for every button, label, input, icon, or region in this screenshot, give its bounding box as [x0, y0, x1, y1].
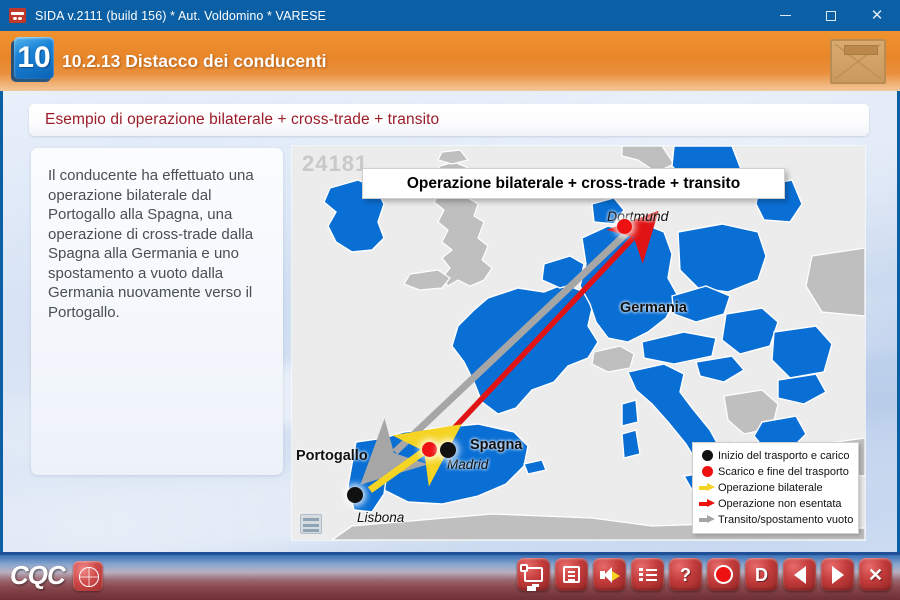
close-x-icon: ✕	[868, 566, 883, 584]
maximize-icon	[826, 11, 836, 21]
map-label-portogallo: Portogallo	[296, 448, 368, 464]
legend-item: Operazione bilaterale	[699, 480, 852, 495]
monitor-icon	[524, 567, 543, 582]
map-dot-unload-spain	[422, 442, 437, 457]
presentation-button[interactable]	[517, 558, 550, 591]
minimize-button[interactable]	[762, 0, 808, 31]
next-arrow-icon	[832, 566, 844, 584]
document-icon	[563, 566, 580, 583]
speaker-icon	[600, 567, 620, 583]
record-button[interactable]	[707, 558, 740, 591]
map-label-dortmund: Dortmund	[607, 208, 668, 224]
description-panel: Il conducente ha effettuato una operazio…	[31, 148, 283, 475]
globe-icon[interactable]	[73, 561, 103, 591]
previous-button[interactable]	[783, 558, 816, 591]
maximize-button[interactable]	[808, 0, 854, 31]
map-dot-madrid	[440, 442, 456, 458]
description-text: Il conducente ha effettuato una operazio…	[48, 166, 267, 322]
map-callout-title: Operazione bilaterale + cross-trade + tr…	[362, 168, 785, 199]
red-dot-icon	[716, 567, 731, 582]
toolbar-buttons: ? D ✕	[517, 558, 892, 591]
document-button[interactable]	[555, 558, 588, 591]
close-icon: ✕	[871, 8, 884, 23]
window-controls: ✕	[762, 0, 900, 31]
grey-arrow-icon	[699, 515, 716, 524]
map-dot-lisbona	[347, 487, 363, 503]
window-title: SIDA v.2111 (build 156) * Aut. Voldomino…	[35, 9, 326, 23]
help-button[interactable]: ?	[669, 558, 702, 591]
d-button[interactable]: D	[745, 558, 778, 591]
legend-label: Operazione non esentata	[718, 498, 842, 510]
content-area: Esempio di operazione bilaterale + cross…	[3, 91, 897, 552]
map-callout-label: Operazione bilaterale + cross-trade + tr…	[407, 175, 740, 193]
chapter-number-label: 10	[14, 40, 54, 76]
chapter-number-badge: 10	[10, 34, 54, 80]
map-label-madrid: Madrid	[447, 457, 488, 472]
yellow-arrow-icon	[699, 483, 716, 492]
title-bar: SIDA v.2111 (build 156) * Aut. Voldomino…	[0, 0, 900, 31]
map-watermark: 24181	[302, 151, 368, 177]
black-dot-icon	[699, 450, 716, 461]
red-arrow-icon	[699, 499, 716, 508]
minimize-icon	[780, 15, 791, 16]
legend-item: Transito/spostamento vuoto	[699, 512, 852, 527]
europe-map: 24181 Operazione bilaterale + cross-trad…	[292, 146, 865, 540]
letter-d-icon: D	[755, 566, 768, 584]
subtitle-label: Esempio di operazione bilaterale + cross…	[45, 111, 439, 129]
close-app-button[interactable]: ✕	[859, 558, 892, 591]
map-legend: Inizio del trasporto e carico Scarico e …	[692, 442, 859, 534]
chapter-header: 10 10.2.13 Distacco dei conducenti	[0, 31, 900, 91]
question-icon: ?	[680, 566, 691, 584]
list-icon	[639, 567, 657, 582]
map-dot-dortmund	[617, 219, 632, 234]
page-title: 10.2.13 Distacco dei conducenti	[62, 31, 327, 91]
map-label-spagna: Spagna	[470, 437, 522, 453]
next-button[interactable]	[821, 558, 854, 591]
index-button[interactable]	[631, 558, 664, 591]
legend-label: Operazione bilaterale	[718, 482, 823, 494]
cqc-brand: CQC	[10, 560, 103, 591]
map-watermark-logo	[300, 514, 322, 534]
cqc-brand-label: CQC	[10, 560, 65, 591]
application-window: SIDA v.2111 (build 156) * Aut. Voldomino…	[0, 0, 900, 600]
legend-item: Scarico e fine del trasporto	[699, 464, 852, 479]
legend-label: Inizio del trasporto e carico	[718, 450, 849, 462]
wooden-crate-icon	[830, 39, 886, 84]
legend-label: Transito/spostamento vuoto	[718, 514, 853, 526]
footer-toolbar: CQC ? D	[0, 552, 900, 600]
legend-label: Scarico e fine del trasporto	[718, 466, 849, 478]
truck-icon	[9, 8, 26, 23]
window-close-button[interactable]: ✕	[854, 0, 900, 31]
legend-item: Operazione non esentata	[699, 496, 852, 511]
map-label-lisbona: Lisbona	[357, 510, 404, 525]
prev-arrow-icon	[794, 566, 806, 584]
legend-item: Inizio del trasporto e carico	[699, 448, 852, 463]
subtitle-bar: Esempio di operazione bilaterale + cross…	[29, 104, 869, 136]
map-label-germania: Germania	[620, 300, 687, 316]
red-dot-icon	[699, 466, 716, 477]
audio-button[interactable]	[593, 558, 626, 591]
